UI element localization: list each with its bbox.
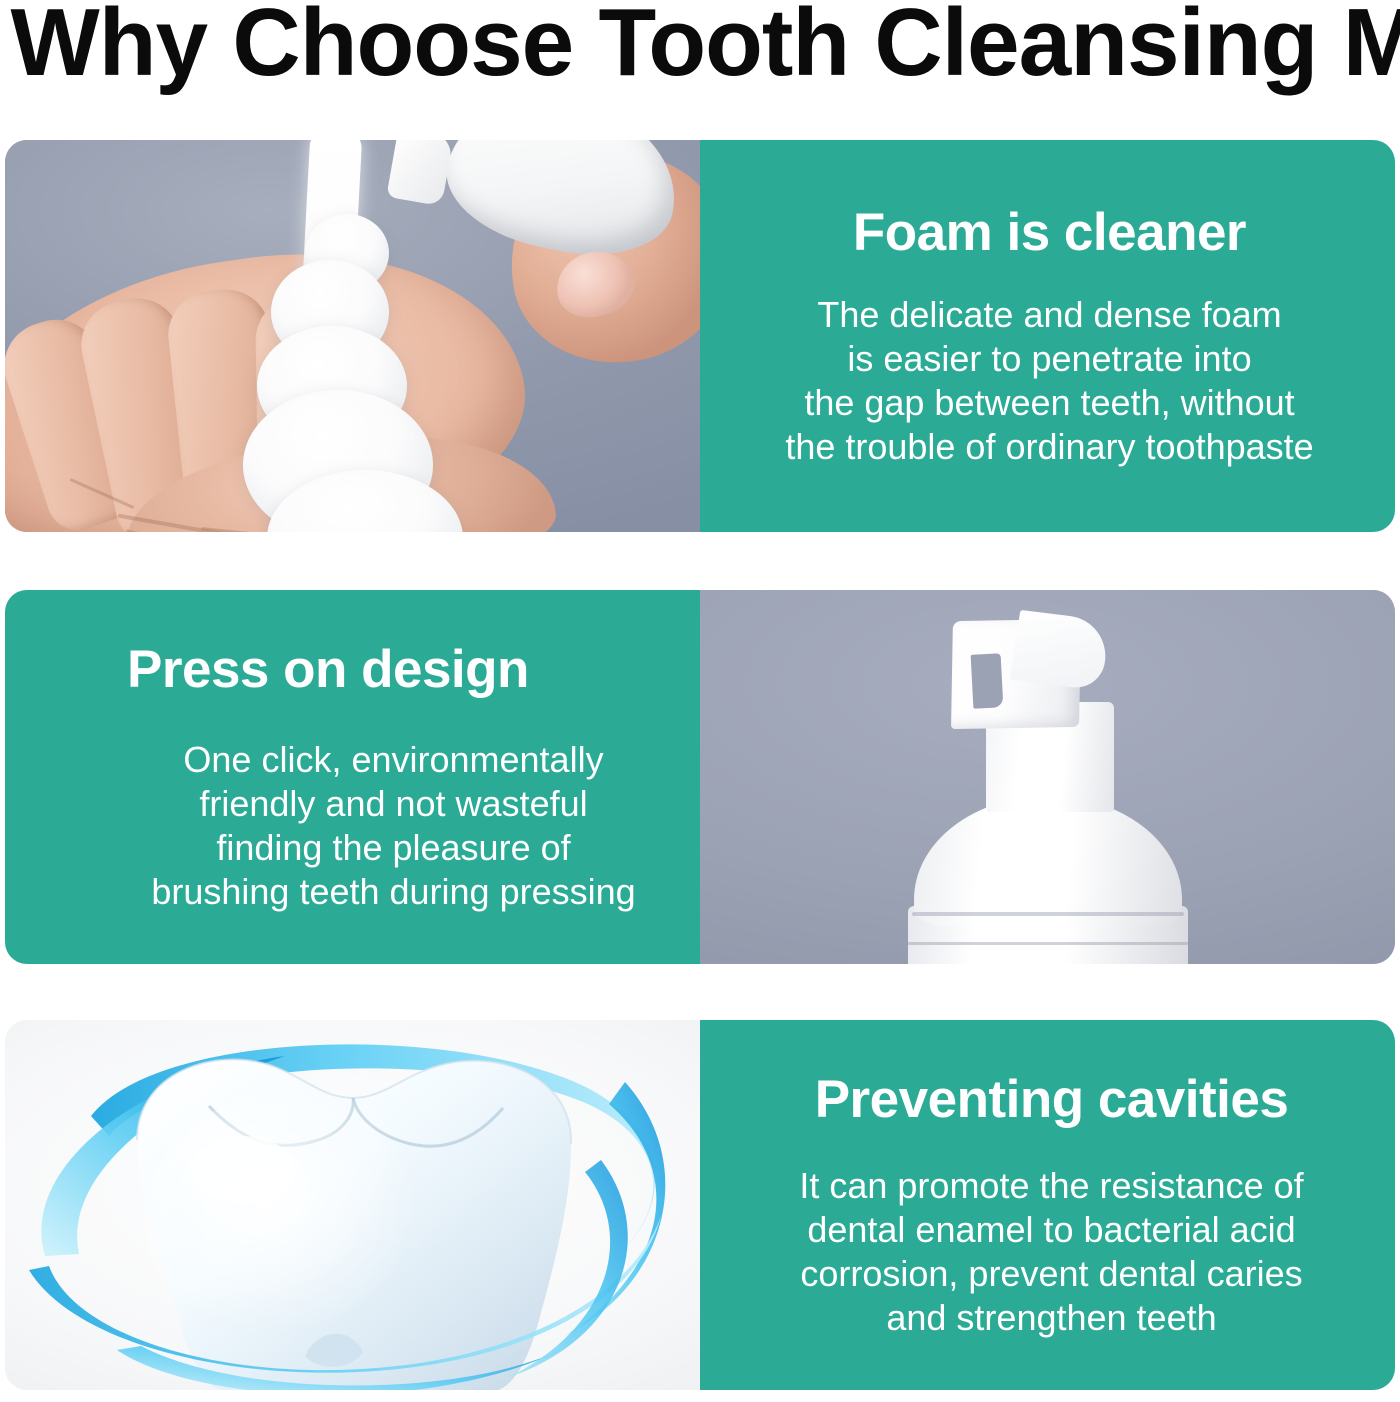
bottle-ring [912, 912, 1184, 916]
body-line: finding the pleasure of [127, 826, 660, 870]
feature-row-press-on-design: Press on design One click, environmental… [5, 590, 1395, 964]
panel-body-preventing-cavities: It can promote the resistance of dental … [799, 1164, 1303, 1340]
body-line: is easier to penetrate into [785, 337, 1313, 381]
body-line: brushing teeth during pressing [127, 870, 660, 914]
page-title: Why Choose Tooth Cleansing Mousse [11, 0, 1390, 98]
image-pump-dispenser-head: white-foam-pump-dispenser-head [700, 590, 1395, 964]
body-line: dental enamel to bacterial acid [799, 1208, 1303, 1252]
panel-heading-preventing-cavities: Preventing cavities [815, 1070, 1289, 1130]
body-line: corrosion, prevent dental caries [799, 1252, 1303, 1296]
text-panel-press-on-design: Press on design One click, environmental… [5, 590, 700, 964]
body-line: It can promote the resistance of [799, 1164, 1303, 1208]
image-tooth-with-swooshes: glossy-white-tooth-with-blue-orbital-swo… [5, 1020, 700, 1390]
body-line: the gap between teeth, without [785, 381, 1313, 425]
text-panel-foam-is-cleaner: Foam is cleaner The delicate and dense f… [700, 140, 1395, 532]
panel-heading-foam-is-cleaner: Foam is cleaner [853, 203, 1246, 263]
body-line: the trouble of ordinary toothpaste [785, 425, 1313, 469]
body-line: One click, environmentally [127, 738, 660, 782]
tooth-illustration [5, 1020, 700, 1390]
bottle-ring [908, 942, 1188, 945]
body-line: and strengthen teeth [799, 1296, 1303, 1340]
feature-row-preventing-cavities: glossy-white-tooth-with-blue-orbital-swo… [5, 1020, 1395, 1390]
text-panel-preventing-cavities: Preventing cavities It can promote the r… [700, 1020, 1395, 1390]
tooth-shape [137, 1059, 571, 1390]
pump-spout-notch [970, 653, 1003, 708]
panel-heading-press-on-design: Press on design [127, 640, 529, 700]
body-line: The delicate and dense foam [785, 293, 1313, 337]
pump-spout-shape [951, 619, 1081, 729]
feature-row-foam-is-cleaner: hand-with-foam-dispensed-from-bottle Foa… [5, 140, 1395, 532]
body-line: friendly and not wasteful [127, 782, 660, 826]
panel-body-press-on-design: One click, environmentally friendly and … [127, 738, 660, 914]
image-hand-with-foam: hand-with-foam-dispensed-from-bottle [5, 140, 700, 532]
panel-body-foam-is-cleaner: The delicate and dense foam is easier to… [785, 293, 1313, 469]
